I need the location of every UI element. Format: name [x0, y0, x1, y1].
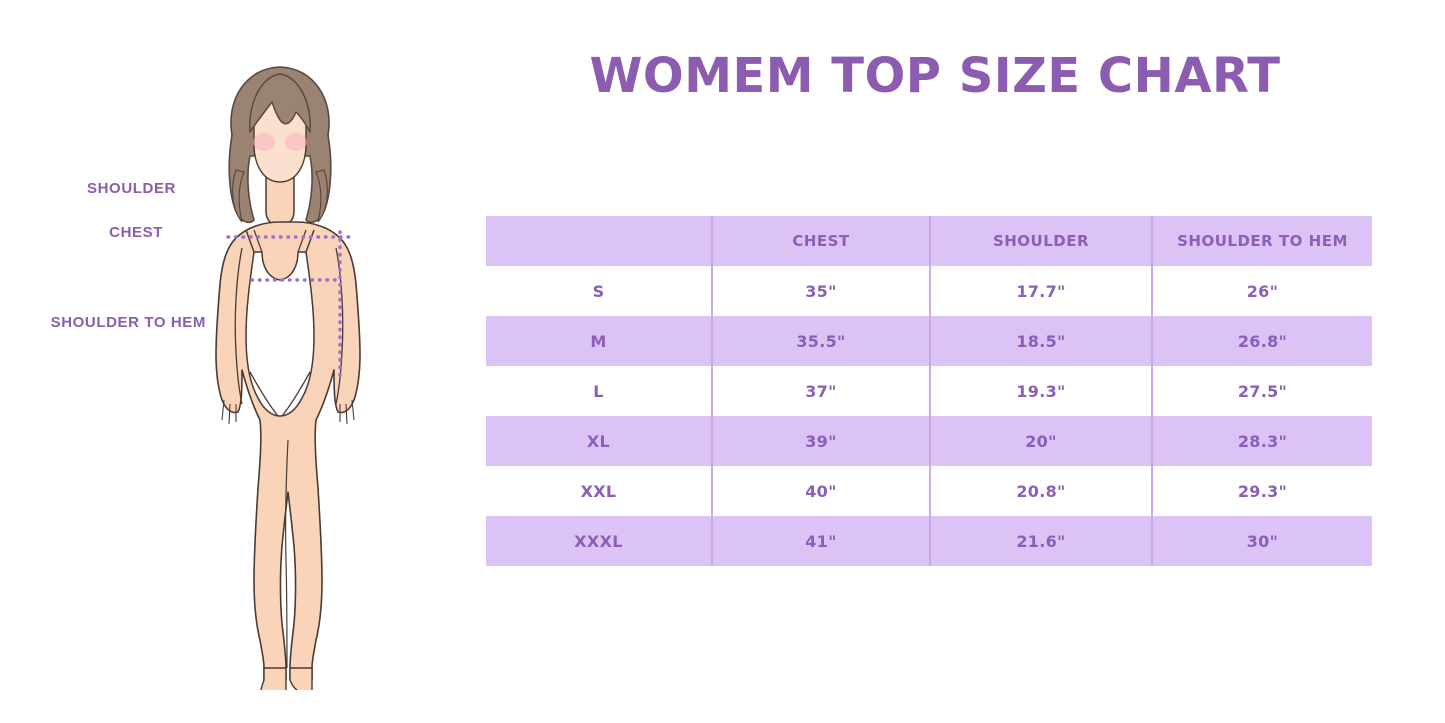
table-row: XXL 40" 20.8" 29.3": [486, 466, 1372, 516]
table-row: S 35" 17.7" 26": [486, 266, 1372, 316]
cell-size: M: [486, 316, 712, 366]
cell-size: XXL: [486, 466, 712, 516]
cheek-right: [285, 133, 307, 151]
foot-left-shape: [261, 668, 286, 690]
cell-size: L: [486, 366, 712, 416]
measure-label-shoulder: SHOULDER: [0, 180, 176, 197]
cell-shoulder: 17.7": [930, 266, 1152, 316]
cell-chest: 37": [712, 366, 930, 416]
cell-chest: 40": [712, 466, 930, 516]
table-row: L 37" 19.3" 27.5": [486, 366, 1372, 416]
table-header-row: CHEST SHOULDER SHOULDER TO HEM: [486, 216, 1372, 266]
cell-chest: 35": [712, 266, 930, 316]
cheek-left: [253, 133, 275, 151]
page-title: WOMEM TOP SIZE CHART: [470, 48, 1400, 104]
cell-chest: 41": [712, 516, 930, 566]
measure-label-shoulder-to-hem: SHOULDER TO HEM: [0, 314, 206, 331]
cell-size: S: [486, 266, 712, 316]
cell-shoulder: 18.5": [930, 316, 1152, 366]
foot-right-shape: [290, 668, 312, 690]
cell-shoulder: 21.6": [930, 516, 1152, 566]
cell-chest: 35.5": [712, 316, 930, 366]
cell-shoulder: 19.3": [930, 366, 1152, 416]
column-header-size: [486, 216, 712, 266]
figure-illustration-panel: SHOULDER CHEST SHOULDER TO HEM: [0, 0, 470, 723]
cell-shoulder: 20": [930, 416, 1152, 466]
measure-label-chest: CHEST: [0, 224, 163, 241]
column-header-shoulder: SHOULDER: [930, 216, 1152, 266]
table-row: XL 39" 20" 28.3": [486, 416, 1372, 466]
column-header-shoulder-to-hem: SHOULDER TO HEM: [1152, 216, 1372, 266]
cell-chest: 39": [712, 416, 930, 466]
table-row: XXXL 41" 21.6" 30": [486, 516, 1372, 566]
cell-size: XXXL: [486, 516, 712, 566]
cell-shoulder: 20.8": [930, 466, 1152, 516]
cell-size: XL: [486, 416, 712, 466]
cell-shoulder-to-hem: 27.5": [1152, 366, 1372, 416]
cell-shoulder-to-hem: 26": [1152, 266, 1372, 316]
cell-shoulder-to-hem: 26.8": [1152, 316, 1372, 366]
cell-shoulder-to-hem: 28.3": [1152, 416, 1372, 466]
size-chart-table: CHEST SHOULDER SHOULDER TO HEM S 35" 17.…: [486, 216, 1372, 566]
table-row: M 35.5" 18.5" 26.8": [486, 316, 1372, 366]
cell-shoulder-to-hem: 29.3": [1152, 466, 1372, 516]
column-header-chest: CHEST: [712, 216, 930, 266]
female-body-figure: [150, 40, 410, 690]
cell-shoulder-to-hem: 30": [1152, 516, 1372, 566]
